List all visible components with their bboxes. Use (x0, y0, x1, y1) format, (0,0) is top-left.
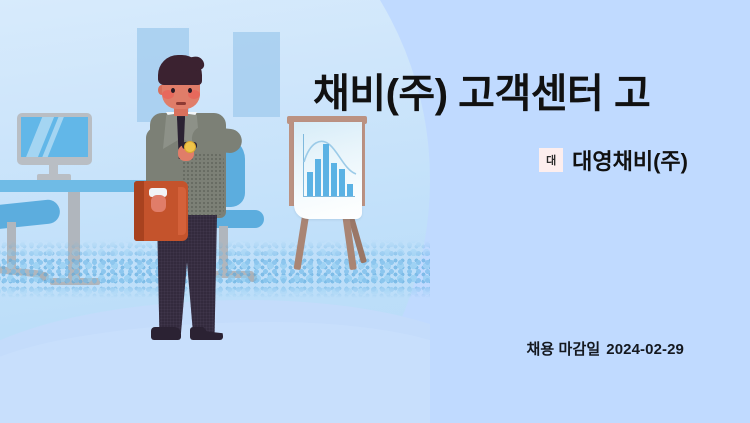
chart-bar (339, 169, 345, 196)
page-title: 채비(주) 고객센터 고 (313, 72, 750, 117)
briefcase-edge (178, 187, 186, 235)
left-hand (151, 195, 166, 212)
company-row: 대 대영채비(주) (539, 144, 688, 176)
eye-left (171, 88, 175, 93)
monitor-screen (21, 117, 88, 157)
mouth (176, 102, 186, 105)
job-posting-banner: 채비(주) 고객센터 고 대 대영채비(주) 채용 마감일2024-02-29 (0, 0, 750, 423)
illustration-region (0, 0, 430, 423)
chart-bar (323, 144, 329, 196)
eye-right (188, 88, 192, 93)
businessman-figure (130, 55, 260, 365)
deadline-text: 채용 마감일2024-02-29 (526, 338, 684, 359)
deadline-label: 채용 마감일 (526, 341, 600, 358)
jacket-texture (182, 153, 224, 215)
chart-x-axis (303, 196, 355, 197)
wristwatch-icon (184, 141, 196, 153)
chart-bar (331, 163, 337, 196)
flipchart-paper (294, 122, 362, 219)
shoe-left (151, 327, 181, 340)
chart-bar (307, 172, 313, 196)
chart-bar (347, 184, 353, 196)
briefcase-spine (134, 181, 144, 241)
deadline-date: 2024-02-29 (606, 341, 684, 358)
chart-bar (315, 159, 321, 196)
company-name: 대영채비(주) (572, 144, 688, 176)
company-logo-badge: 대 (539, 148, 563, 172)
